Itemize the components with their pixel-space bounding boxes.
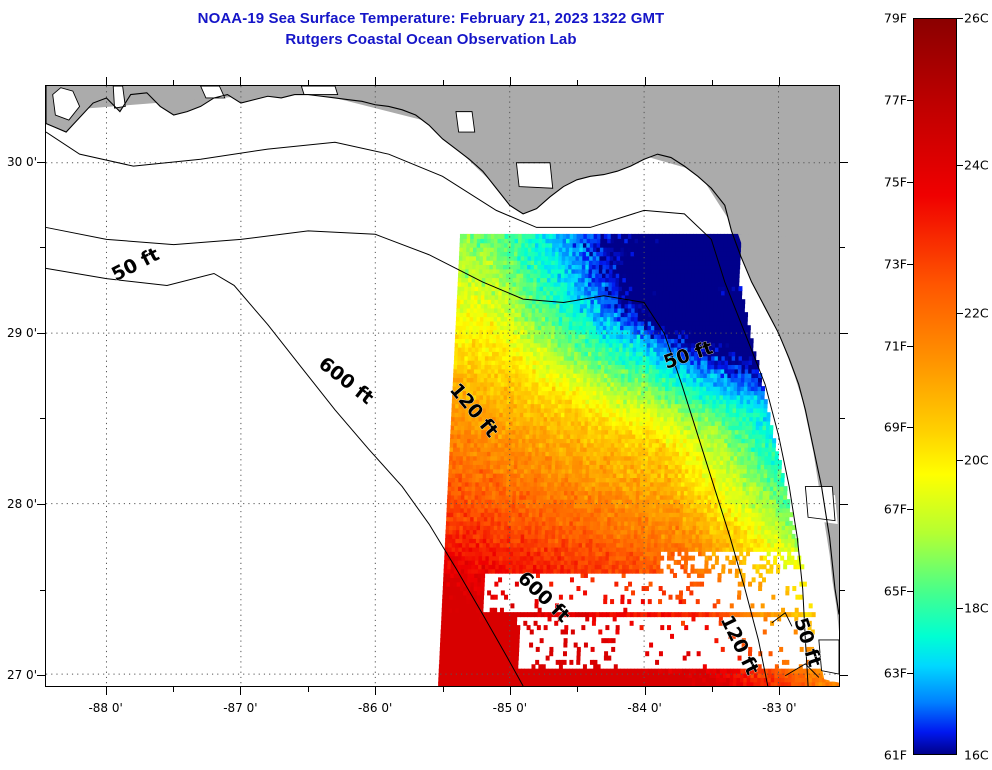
sst-pixel (727, 456, 731, 461)
sst-pixel (627, 473, 631, 478)
sst-pixel (682, 677, 686, 682)
sst-pixel (652, 521, 656, 526)
sst-pixel (467, 508, 471, 513)
sst-pixel (744, 530, 748, 535)
sst-pixel (698, 551, 702, 556)
sst-pixel (479, 477, 483, 482)
sst-pixel (496, 616, 500, 621)
sst-pixel (521, 451, 525, 456)
sst-pixel (478, 643, 482, 648)
sst-pixel (526, 556, 530, 561)
sst-pixel (573, 508, 577, 513)
sst-pixel (764, 530, 768, 535)
sst-pixel (544, 556, 548, 561)
sst-pixel (489, 477, 493, 482)
sst-pixel (561, 543, 565, 548)
sst-pixel (452, 530, 456, 535)
sst-pixel (748, 451, 752, 456)
sst-pixel (584, 564, 588, 569)
sst-pixel (560, 438, 564, 443)
sst-pixel (737, 451, 741, 456)
sst-pixel (689, 521, 693, 526)
sst-pixel (723, 677, 727, 682)
sst-pixel (448, 625, 452, 630)
sst-pixel (616, 477, 620, 482)
sst-pixel (593, 456, 597, 461)
sst-pixel (541, 534, 545, 539)
sst-pixel (515, 643, 519, 648)
sst-pixel (533, 416, 537, 421)
sst-pixel (626, 408, 630, 413)
sst-pixel (684, 486, 688, 491)
sst-pixel (686, 521, 690, 526)
sst-pixel (605, 495, 609, 500)
sst-pixel (586, 538, 590, 543)
sst-pixel (478, 638, 482, 643)
sst-pixel (749, 421, 753, 426)
sst-pixel (738, 443, 742, 448)
sst-pixel (594, 443, 598, 448)
sst-pixel (772, 516, 776, 521)
sst-pixel (512, 499, 516, 504)
sst-pixel (448, 543, 452, 548)
sst-pixel (683, 447, 687, 452)
sst-pixel (544, 547, 548, 552)
sst-pixel (567, 503, 571, 508)
sst-pixel (768, 456, 772, 461)
sst-pixel (640, 408, 644, 413)
sst-pixel (711, 499, 715, 504)
sst-pixel (558, 543, 562, 548)
sst-pixel (567, 425, 571, 430)
sst-pixel (522, 430, 526, 435)
sst-pixel (450, 516, 454, 521)
sst-pixel (751, 460, 755, 465)
sst-pixel (531, 664, 535, 669)
sst-pixel (717, 443, 721, 448)
sst-pixel (563, 516, 567, 521)
sst-pixel (501, 656, 505, 661)
sst-pixel (605, 482, 609, 487)
sst-pixel (764, 456, 768, 461)
sst-pixel (569, 456, 573, 461)
sst-pixel (524, 469, 528, 474)
sst-pixel (532, 503, 536, 508)
sst-pixel (639, 569, 643, 574)
sst-pixel (547, 416, 551, 421)
sst-pixel (499, 564, 503, 569)
sst-pixel (561, 408, 565, 413)
sst-pixel (597, 525, 601, 530)
sst-pixel (462, 469, 466, 474)
sst-pixel (493, 460, 497, 465)
sst-pixel (587, 516, 591, 521)
sst-map-canvas[interactable]: 50 ft600 ft120 ft50 ft600 ft120 ft50 ft (46, 86, 839, 686)
sst-pixel (631, 530, 635, 535)
sst-pixel (573, 521, 577, 526)
sst-pixel (603, 469, 607, 474)
sst-pixel (679, 521, 683, 526)
sst-pixel (711, 430, 715, 435)
sst-pixel (467, 582, 471, 587)
sst-pixel (599, 403, 603, 408)
sst-pixel (525, 525, 529, 530)
sst-pixel (552, 460, 556, 465)
sst-pixel (450, 638, 454, 643)
sst-pixel (723, 669, 727, 674)
sst-pixel (621, 595, 625, 600)
sst-pixel (689, 590, 693, 595)
sst-pixel (654, 673, 658, 678)
sst-pixel (473, 534, 477, 539)
sst-pixel (505, 425, 509, 430)
sst-pixel (686, 438, 690, 443)
sst-pixel (722, 482, 726, 487)
sst-pixel (652, 447, 656, 452)
sst-pixel (743, 538, 747, 543)
sst-pixel (598, 416, 602, 421)
sst-pixel (634, 451, 638, 456)
sst-pixel (733, 473, 737, 478)
sst-pixel (692, 530, 696, 535)
sst-pixel (560, 508, 564, 513)
sst-pixel (507, 669, 511, 674)
sst-pixel (629, 421, 633, 426)
sst-pixel (532, 447, 536, 452)
sst-pixel (644, 677, 648, 682)
sst-pixel (684, 564, 688, 569)
sst-pixel (658, 669, 662, 674)
sst-pixel (551, 677, 555, 682)
sst-pixel (730, 530, 734, 535)
sst-pixel (562, 464, 566, 469)
sst-pixel (741, 525, 745, 530)
sst-pixel (643, 560, 647, 565)
sst-pixel (792, 586, 796, 591)
sst-pixel (594, 503, 598, 508)
map-plot-frame[interactable]: 50 ft600 ft120 ft50 ft600 ft120 ft50 ft (45, 85, 840, 687)
sst-pixel (763, 629, 767, 634)
sst-pixel (767, 551, 771, 556)
sst-pixel (518, 447, 522, 452)
sst-pixel (655, 660, 659, 665)
sst-pixel (716, 464, 720, 469)
sst-pixel (532, 516, 536, 521)
sst-pixel (461, 564, 465, 569)
sst-pixel (671, 477, 675, 482)
sst-pixel (763, 564, 767, 569)
sst-pixel (552, 530, 556, 535)
sst-pixel (473, 530, 477, 535)
sst-pixel (646, 490, 650, 495)
sst-pixel (675, 673, 679, 678)
sst-pixel (527, 408, 531, 413)
sst-pixel (652, 438, 656, 443)
sst-pixel (455, 482, 459, 487)
sst-pixel (733, 677, 737, 682)
sst-pixel (768, 530, 772, 535)
sst-pixel (665, 530, 669, 535)
sst-pixel (723, 464, 727, 469)
sst-pixel (792, 534, 796, 539)
sst-pixel (512, 438, 516, 443)
sst-pixel (471, 490, 475, 495)
sst-pixel (443, 573, 447, 578)
sst-pixel (513, 547, 517, 552)
sst-pixel (590, 516, 594, 521)
sst-pixel (617, 451, 621, 456)
sst-pixel (539, 438, 543, 443)
sst-pixel (534, 473, 538, 478)
sst-pixel (735, 425, 739, 430)
sst-pixel (614, 447, 618, 452)
sst-pixel (553, 508, 557, 513)
sst-pixel (754, 530, 758, 535)
sst-pixel (771, 530, 775, 535)
sst-pixel (618, 447, 622, 452)
sst-pixel (547, 490, 551, 495)
sst-pixel (685, 669, 689, 674)
sst-pixel (584, 430, 588, 435)
sst-pixel (473, 464, 477, 469)
sst-pixel (654, 538, 658, 543)
sst-pixel (553, 512, 557, 517)
sst-pixel (513, 560, 517, 565)
sst-pixel (517, 538, 521, 543)
sst-pixel (540, 490, 544, 495)
sst-pixel (766, 560, 770, 565)
sst-pixel (497, 464, 501, 469)
sst-pixel (661, 477, 665, 482)
sst-pixel (523, 416, 527, 421)
sst-pixel (701, 490, 705, 495)
sst-pixel (598, 490, 602, 495)
sst-pixel (564, 551, 568, 556)
sst-pixel (443, 651, 447, 656)
sst-pixel (525, 521, 529, 526)
sst-pixel (575, 477, 579, 482)
sst-pixel (606, 464, 610, 469)
sst-pixel (645, 516, 649, 521)
sst-pixel (456, 460, 460, 465)
sst-pixel (516, 569, 520, 574)
sst-pixel (560, 443, 564, 448)
sst-pixel (546, 508, 550, 513)
sst-pixel (523, 486, 527, 491)
sst-pixel (574, 434, 578, 439)
sst-pixel (721, 495, 725, 500)
sst-pixel (534, 399, 538, 404)
sst-pixel (778, 677, 782, 682)
sst-pixel (751, 516, 755, 521)
sst-pixel (622, 503, 626, 508)
sst-pixel (569, 595, 573, 600)
sst-pixel (794, 560, 798, 565)
sst-pixel (600, 516, 604, 521)
sst-pixel (685, 538, 689, 543)
sst-pixel (709, 547, 713, 552)
sst-pixel (475, 625, 479, 630)
sst-pixel (592, 399, 596, 404)
sst-pixel (610, 599, 614, 604)
sst-pixel (788, 530, 792, 535)
sst-pixel (507, 677, 511, 682)
sst-pixel (667, 551, 671, 556)
sst-pixel (447, 577, 451, 582)
sst-pixel (655, 516, 659, 521)
sst-pixel (638, 530, 642, 535)
sst-pixel (669, 521, 673, 526)
sst-pixel (768, 525, 772, 530)
sst-pixel (762, 503, 766, 508)
sst-pixel (649, 438, 653, 443)
sst-pixel (529, 438, 533, 443)
sst-pixel (729, 486, 733, 491)
sst-pixel (534, 403, 538, 408)
sst-pixel (732, 560, 736, 565)
sst-pixel (661, 403, 665, 408)
sst-pixel (740, 403, 744, 408)
sst-pixel (709, 530, 713, 535)
sst-pixel (809, 603, 813, 608)
sst-pixel (591, 430, 595, 435)
sst-pixel (446, 664, 450, 669)
sst-pixel (771, 538, 775, 543)
sst-pixel (648, 456, 652, 461)
sst-pixel (526, 503, 530, 508)
sst-pixel (650, 403, 654, 408)
sst-pixel (642, 434, 646, 439)
sst-pixel (622, 425, 626, 430)
sst-pixel (695, 477, 699, 482)
sst-pixel (614, 582, 618, 587)
sst-pixel (659, 512, 663, 517)
sst-pixel (543, 508, 547, 513)
sst-pixel (604, 656, 608, 661)
sst-pixel (713, 456, 717, 461)
sst-pixel (675, 530, 679, 535)
sst-pixel (491, 647, 495, 652)
sst-pixel (585, 486, 589, 491)
sst-pixel (569, 660, 573, 665)
sst-pixel (443, 643, 447, 648)
sst-pixel (549, 447, 553, 452)
sst-pixel (531, 543, 535, 548)
sst-pixel (561, 416, 565, 421)
sst-pixel (639, 508, 643, 513)
sst-pixel (795, 595, 799, 600)
sst-pixel (568, 482, 572, 487)
sst-pixel (574, 416, 578, 421)
sst-pixel (605, 625, 609, 630)
sst-pixel (693, 451, 697, 456)
sst-pixel (545, 673, 549, 678)
sst-pixel (504, 660, 508, 665)
sst-pixel (565, 403, 569, 408)
sst-pixel (737, 590, 741, 595)
sst-pixel (663, 434, 667, 439)
sst-pixel (780, 486, 784, 491)
sst-pixel (623, 677, 627, 682)
sst-pixel (772, 438, 776, 443)
sst-pixel (649, 582, 653, 587)
sst-pixel (574, 421, 578, 426)
sst-pixel (602, 473, 606, 478)
sst-pixel (576, 460, 580, 465)
sst-pixel (693, 512, 697, 517)
sst-pixel (590, 521, 594, 526)
sst-pixel (632, 495, 636, 500)
sst-pixel (716, 460, 720, 465)
sst-pixel (708, 416, 712, 421)
sst-pixel (549, 451, 553, 456)
sst-pixel (564, 629, 568, 634)
sst-pixel (675, 464, 679, 469)
sst-pixel (794, 547, 798, 552)
sst-pixel (472, 612, 476, 617)
sst-pixel (516, 430, 520, 435)
sst-pixel (700, 438, 704, 443)
sst-pixel (583, 512, 587, 517)
sst-pixel (649, 564, 653, 569)
sst-pixel (787, 551, 791, 556)
sst-pixel (671, 399, 675, 404)
sst-pixel (669, 508, 673, 513)
sst-pixel (660, 569, 664, 574)
sst-pixel (486, 543, 490, 548)
sst-pixel (462, 603, 466, 608)
sst-pixel (581, 421, 585, 426)
sst-pixel (661, 530, 665, 535)
sst-pixel (547, 486, 551, 491)
sst-pixel (608, 425, 612, 430)
sst-pixel (596, 538, 600, 543)
sst-pixel (698, 477, 702, 482)
sst-pixel (592, 486, 596, 491)
sst-pixel (563, 508, 567, 513)
sst-pixel (738, 438, 742, 443)
sst-pixel (715, 421, 719, 426)
sst-pixel (539, 512, 543, 517)
sst-pixel (743, 473, 747, 478)
sst-pixel (474, 651, 478, 656)
sst-pixel (541, 464, 545, 469)
sst-pixel (713, 534, 717, 539)
sst-pixel (511, 460, 515, 465)
sst-pixel (623, 412, 627, 417)
sst-pixel (513, 490, 517, 495)
sst-pixel (462, 538, 466, 543)
sst-pixel (692, 543, 696, 548)
sst-pixel (483, 530, 487, 535)
sst-pixel (754, 677, 758, 682)
sst-pixel (619, 495, 623, 500)
sst-pixel (688, 547, 692, 552)
sst-pixel (517, 473, 521, 478)
sst-pixel (609, 490, 613, 495)
sst-pixel (660, 482, 664, 487)
sst-pixel (570, 434, 574, 439)
sst-pixel (771, 669, 775, 674)
sst-pixel (487, 669, 491, 674)
sst-pixel (657, 412, 661, 417)
sst-pixel (564, 495, 568, 500)
sst-pixel (755, 430, 759, 435)
sst-pixel (599, 482, 603, 487)
sst-pixel (579, 399, 583, 404)
sst-pixel (499, 477, 503, 482)
sst-pixel (675, 612, 679, 617)
